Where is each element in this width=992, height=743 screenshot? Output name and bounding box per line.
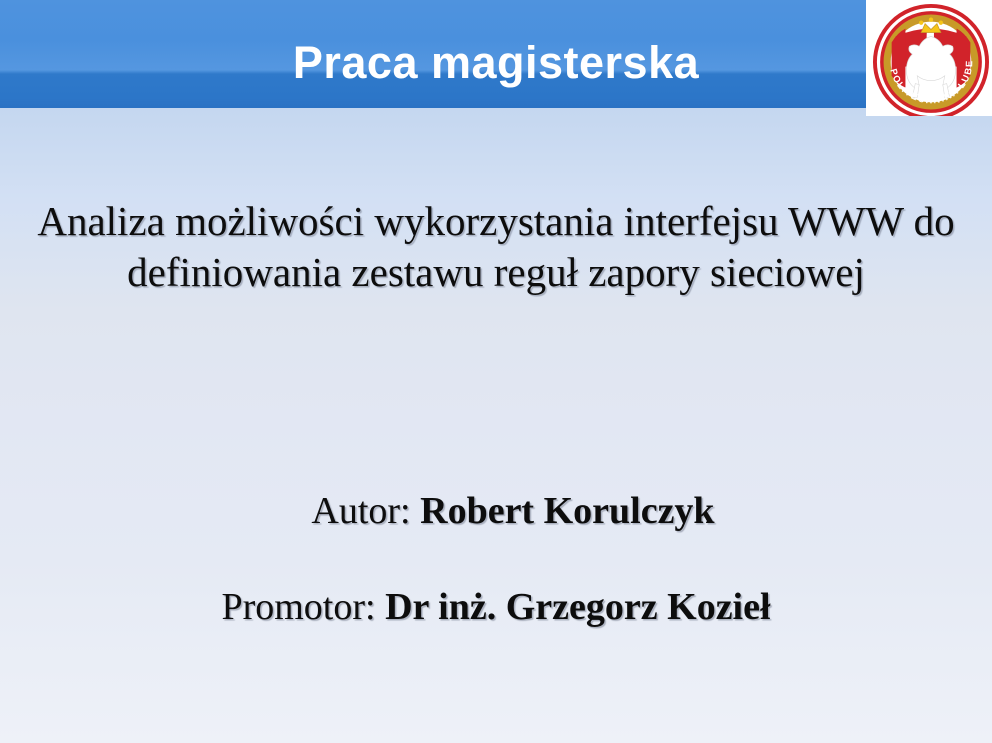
slide-header-band: Praca magisterska: [0, 0, 992, 108]
promoter-line: Promotor: Dr inż. Grzegorz Kozieł: [0, 584, 992, 630]
credits-block: Autor: Robert Korulczyk Promotor: Dr inż…: [0, 488, 992, 630]
author-name: Robert Korulczyk: [420, 490, 714, 532]
author-line: Autor: Robert Korulczyk: [34, 488, 992, 534]
presentation-slide: Praca magisterska: [0, 0, 992, 743]
politechnika-lubelska-logo-icon: POLITECHNIKA LUBELSKA: [872, 3, 990, 116]
promoter-name: Dr inż. Grzegorz Kozieł: [385, 586, 770, 628]
thesis-title: Analiza możliwości wykorzystania interfe…: [20, 196, 972, 298]
logo-plate: POLITECHNIKA LUBELSKA: [866, 0, 992, 116]
author-label: Autor:: [311, 490, 410, 532]
slide-header-title: Praca magisterska: [0, 36, 992, 90]
promoter-label: Promotor:: [221, 586, 375, 628]
